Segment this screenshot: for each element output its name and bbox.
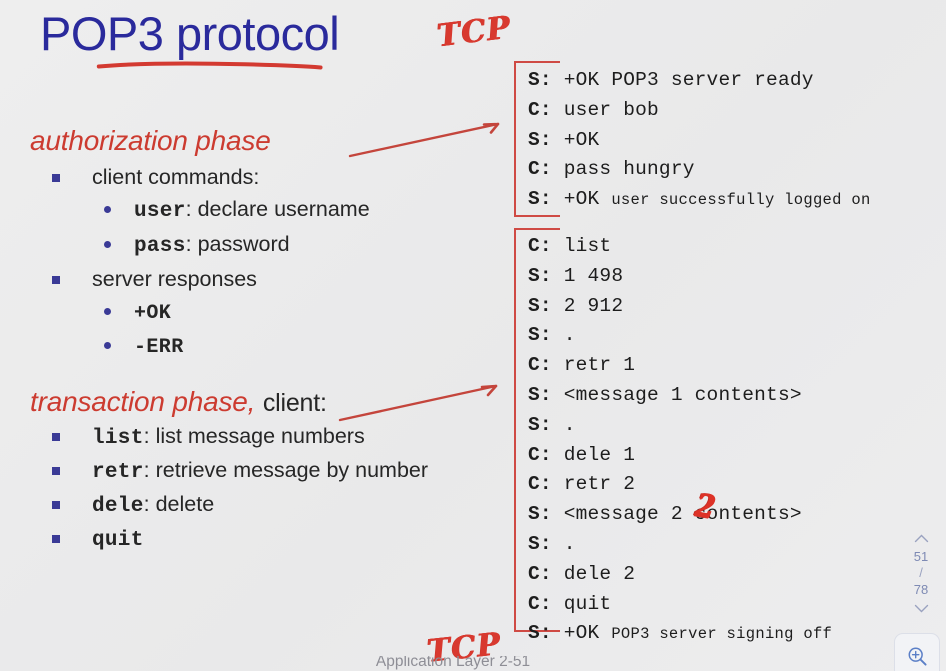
square-bullet-icon [52,276,60,284]
transcript-speaker: S: [528,414,552,436]
transcript-message: +OK [564,129,600,151]
list-item: dele: delete [30,490,490,521]
command-name: dele [92,495,144,518]
command-name: pass [134,235,186,258]
square-bullet-icon [52,501,60,509]
transcript-line: C: retr 1 [528,351,832,381]
transcript-line: C: dele 1 [528,441,832,471]
transcript-speaker: S: [528,265,552,287]
client-commands-sublist: user: declare username pass: password [92,194,490,263]
transcript-speaker: S: [528,503,552,525]
slide-footer: Application Layer 2-51 [0,656,946,671]
command-description: password [198,232,290,256]
transcript-line: S: +OK POP3 server signing off [528,619,832,650]
page-current: 51 [914,549,928,565]
command-description: declare username [198,197,370,221]
transcript-message: dele 2 [564,563,635,585]
transcript-line: S: 2 912 [528,292,832,322]
transcript-line: C: quit [528,590,832,620]
list-item: retr: retrieve message by number [30,456,490,487]
round-bullet-icon [104,206,111,213]
transcript-message: . [564,414,576,436]
transcript-speaker: C: [528,158,552,180]
transcript-message: quit [564,593,612,615]
handwritten-tcp-annotation-top: TCP [435,10,513,55]
authorization-bullet-list: client commands: user: declare username … [30,163,490,362]
transcript-message: user bob [564,99,659,121]
transcript-line: C: dele 2 [528,560,832,590]
transcript-message: retr 1 [564,354,635,376]
transcript-speaker: S: [528,324,552,346]
command-name: retr [92,461,144,484]
transcript-message: 1 498 [564,265,624,287]
transcript-speaker: S: [528,188,552,210]
command-separator: : [144,492,150,516]
list-item: list: list message numbers [30,422,490,453]
transcript-line: S: +OK [528,126,871,156]
command-description: list message numbers [156,424,365,448]
transcript-message: <message 1 contents> [564,384,802,406]
command-description: retrieve message by number [156,458,428,482]
transcript-line: S: <message 1 contents> [528,381,832,411]
transaction-transcript-block: C: list S: 1 498 S: 2 912 S: . C: retr 1… [528,232,832,650]
left-content-column: authorization phase client commands: use… [30,125,490,555]
transcript-speaker: S: [528,622,552,644]
transaction-bullet-list: list: list message numbers retr: retriev… [30,422,490,555]
authorization-phase-heading: authorization phase [30,125,490,157]
transcript-message: dele 1 [564,444,635,466]
transcript-line: C: list [528,232,832,262]
transcript-message: +OK [564,188,612,210]
command-separator: : [186,232,192,256]
transcript-speaker: S: [528,69,552,91]
bullet-label: server responses [92,267,257,291]
page-title: POP3 protocol [40,6,339,61]
transaction-phase-heading-plain: client: [263,389,327,417]
authorization-transcript-block: S: +OK POP3 server ready C: user bob S: … [528,66,871,216]
transcript-message: retr 2 [564,473,635,495]
transcript-message: +OK [564,622,612,644]
transcript-message: . [564,324,576,346]
list-item: pass: password [92,229,490,262]
transcript-speaker: S: [528,295,552,317]
transcript-line: C: user bob [528,96,871,126]
transcript-message-detail: user successfully logged on [611,191,870,209]
command-name: quit [92,529,144,552]
command-separator: : [186,197,192,221]
list-item: client commands: user: declare username … [30,163,490,262]
transcript-line: S: . [528,411,832,441]
transcript-line: S: . [528,321,832,351]
slide-canvas: POP3 protocol authorization phase client… [0,0,946,671]
list-item: -ERR [92,330,490,362]
command-name: list [92,427,144,450]
chevron-down-icon[interactable] [914,598,929,619]
transcript-line: S: . [528,530,832,560]
list-item: server responses +OK -ERR [30,265,490,362]
transcript-message: list [564,235,612,257]
transcript-line: S: +OK user successfully logged on [528,185,871,216]
transcript-message: <message 2 contents> [564,503,802,525]
transaction-phase-heading-italic: transaction phase, [30,386,255,417]
transcript-message-detail: POP3 server signing off [611,625,832,643]
transcript-line: S: <message 2 contents> [528,500,832,530]
square-bullet-icon [52,433,60,441]
transcript-message: 2 912 [564,295,624,317]
transcript-speaker: S: [528,533,552,555]
page-total: 78 [914,582,928,598]
command-separator: : [144,458,150,482]
page-navigator[interactable]: 51 / 78 [906,528,936,619]
title-underline-stroke [36,62,384,71]
transcript-line: S: 1 498 [528,262,832,292]
list-item: +OK [92,296,490,328]
response-code: -ERR [134,336,184,359]
transcript-speaker: C: [528,354,552,376]
square-bullet-icon [52,174,60,182]
command-description: delete [156,492,215,516]
transcript-speaker: S: [528,384,552,406]
transcript-speaker: C: [528,444,552,466]
round-bullet-icon [104,342,111,349]
chevron-up-icon[interactable] [914,528,929,549]
transcript-speaker: C: [528,473,552,495]
transcript-speaker: C: [528,563,552,585]
transaction-phase-heading: transaction phase, client: [30,386,490,418]
command-separator: : [144,424,150,448]
bullet-label: client commands: [92,165,259,189]
command-name: user [134,200,186,223]
server-responses-sublist: +OK -ERR [92,296,490,362]
list-item: quit [30,524,490,555]
transcript-line: S: +OK POP3 server ready [528,66,871,96]
response-code: +OK [134,302,171,325]
round-bullet-icon [104,308,111,315]
transcript-speaker: C: [528,99,552,121]
transcript-line: C: pass hungry [528,155,871,185]
transcript-message: +OK POP3 server ready [564,69,814,91]
transcript-message: . [564,533,576,555]
page-separator: / [919,565,923,581]
list-item: user: declare username [92,194,490,227]
transcript-speaker: S: [528,129,552,151]
square-bullet-icon [52,535,60,543]
round-bullet-icon [104,241,111,248]
transcript-message: pass hungry [564,158,695,180]
transcript-speaker: C: [528,235,552,257]
square-bullet-icon [52,467,60,475]
transcript-line: C: retr 2 [528,470,832,500]
slide-footer-text: Application Layer 2-51 [376,656,530,671]
transcript-speaker: C: [528,593,552,615]
